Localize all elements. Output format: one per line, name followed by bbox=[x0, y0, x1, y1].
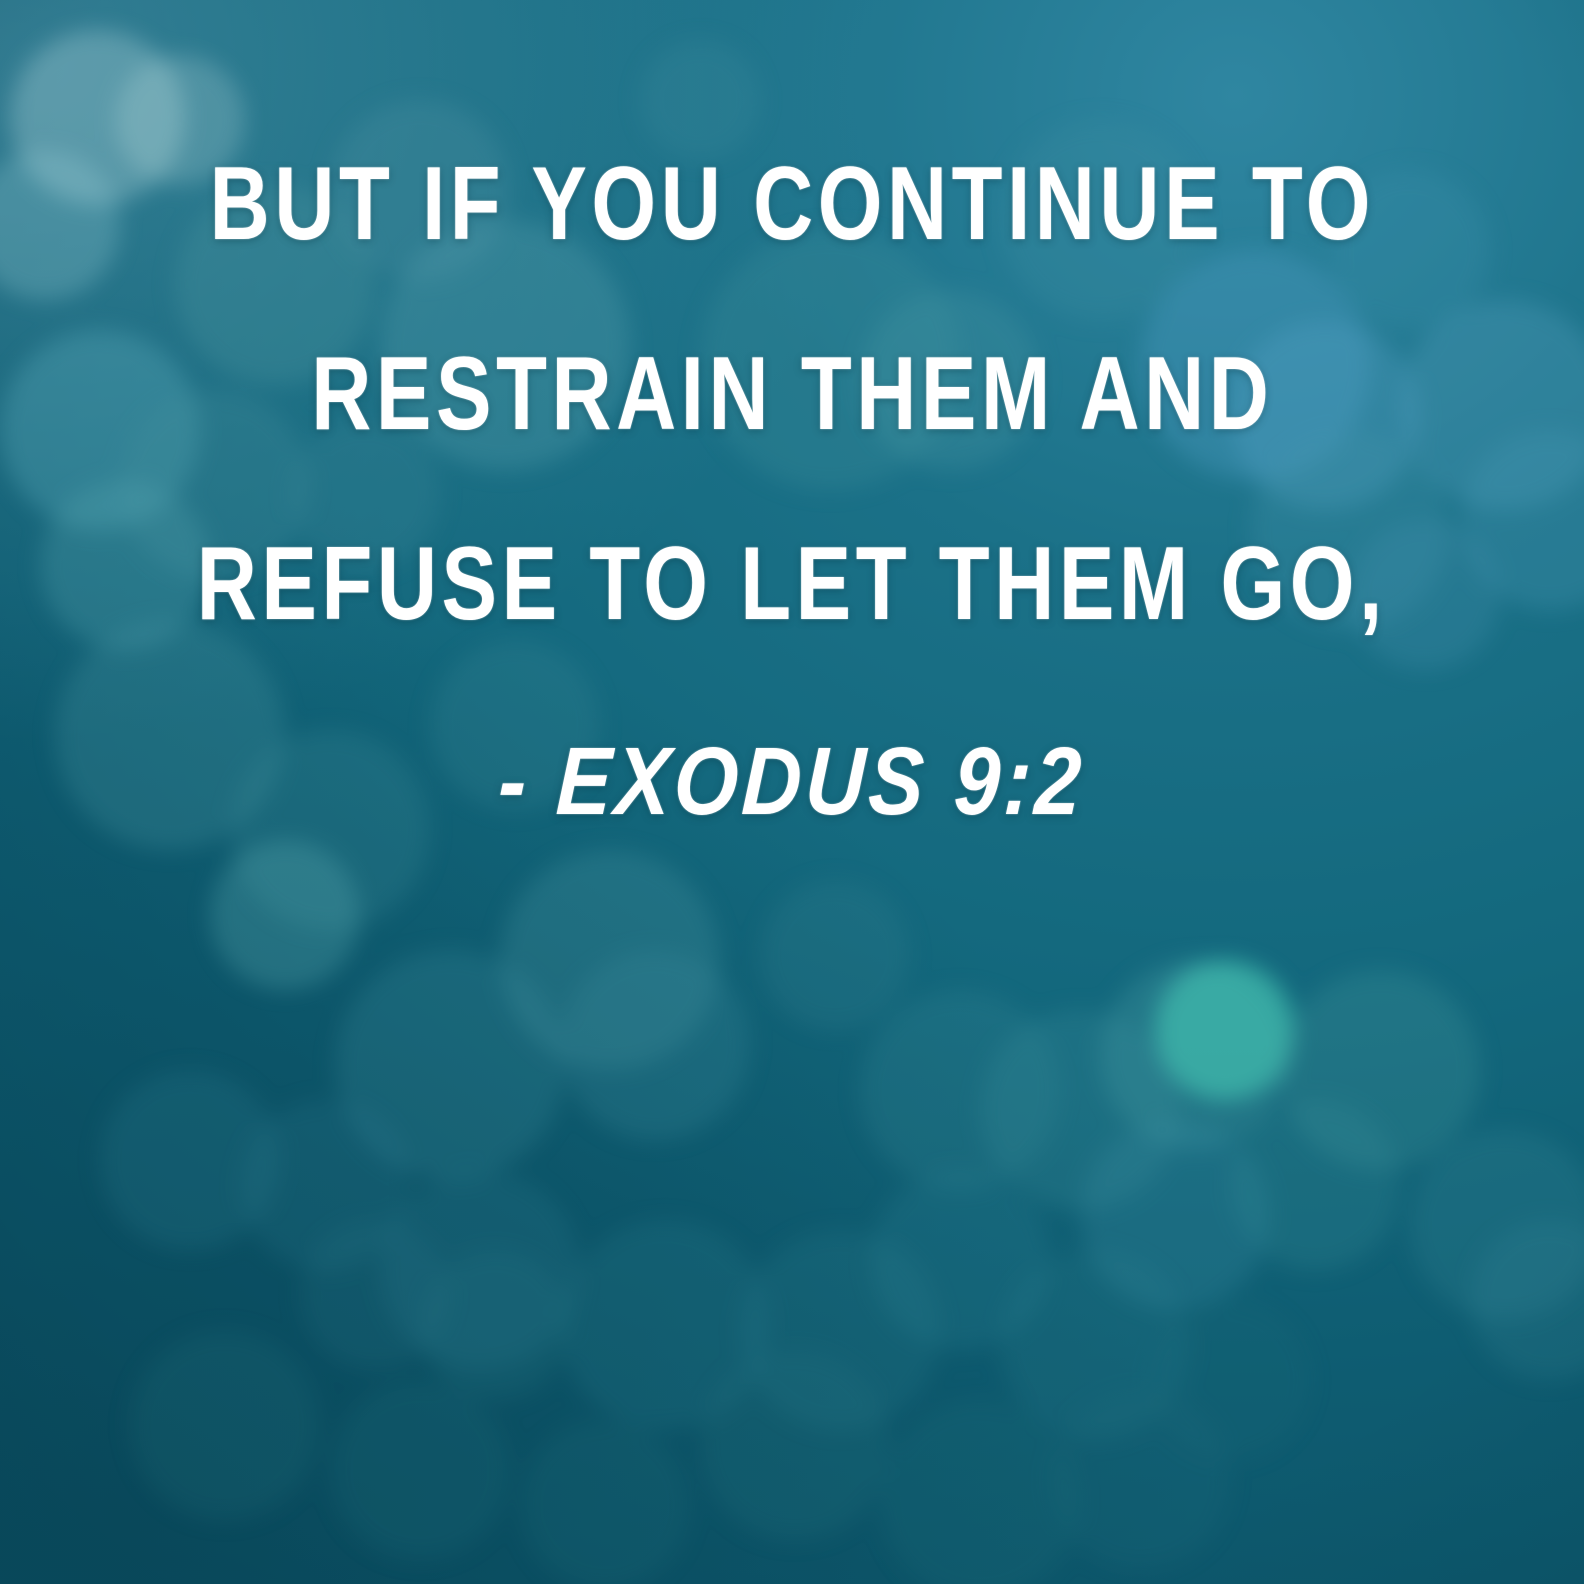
verse-line-2: RESTRAIN THEM AND bbox=[0, 342, 1584, 446]
verse-image-canvas: BUT IF YOU CONTINUE TO RESTRAIN THEM AND… bbox=[0, 0, 1584, 1584]
verse-line-3: REFUSE TO LET THEM GO, bbox=[0, 532, 1584, 636]
verse-line-1: BUT IF YOU CONTINUE TO bbox=[0, 152, 1584, 256]
verse-line-3-text: REFUSE TO LET THEM GO, bbox=[197, 532, 1387, 636]
verse-line-2-text: RESTRAIN THEM AND bbox=[311, 342, 1273, 446]
scripture-citation: - EXODUS 9:2 bbox=[0, 734, 1584, 830]
scripture-citation-text: - EXODUS 9:2 bbox=[497, 734, 1087, 830]
verse-line-1-text: BUT IF YOU CONTINUE TO bbox=[209, 152, 1374, 256]
